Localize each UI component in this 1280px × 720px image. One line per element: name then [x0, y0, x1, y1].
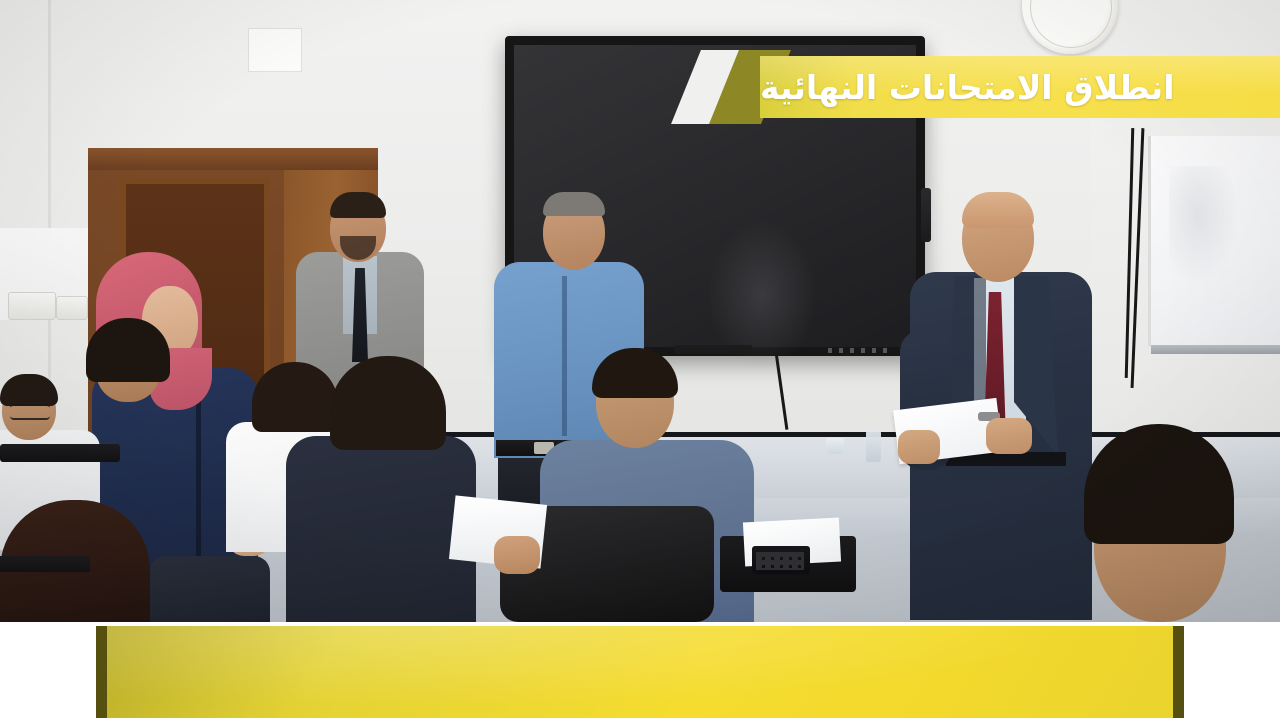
news-card: 8 7 6 5: [0, 0, 1280, 720]
navy-suit-bald-scalp: [962, 192, 1034, 228]
calculator: [752, 546, 810, 574]
student-body: [150, 556, 270, 622]
door-paper-sign: [248, 28, 302, 72]
whiteboard-tray: [1151, 345, 1280, 354]
footer-panel-gloss: [96, 626, 1184, 718]
blue-shirt-hair: [543, 192, 605, 216]
blue-shirt-placket: [562, 276, 567, 436]
smartboard-brand-plate: [674, 345, 752, 354]
navy-suit-hand-right: [986, 418, 1032, 454]
footer-edge-left: [96, 626, 107, 718]
student-glasses: [10, 404, 50, 420]
headline-text: انطلاق الامتحانات النهائية: [760, 56, 1268, 118]
wall-outlet: [8, 292, 56, 320]
student-desk-left: [0, 444, 120, 462]
whiteboard-smudge: [1169, 166, 1239, 286]
smartboard-indicator-leds: [828, 348, 888, 353]
paper-cup: [826, 438, 844, 454]
headline-banner: انطلاق الامتحانات النهائية: [686, 56, 1280, 118]
student-body: [286, 436, 476, 622]
navy-suit-hand-left: [898, 430, 940, 464]
footer-edge-right: [1173, 626, 1184, 718]
footer-bar: f — كلية هندسة النفط والتعدين — College …: [0, 622, 1280, 720]
whiteboard-right: [1148, 136, 1280, 346]
wall-switch: [56, 296, 88, 320]
calculator-keys: [756, 552, 804, 570]
clock-tick-ring: [1030, 0, 1112, 48]
smartboard-side-handle: [921, 188, 931, 242]
door-lintel: [88, 148, 378, 170]
hand-holding-papers: [494, 536, 540, 574]
student-desk-left-lower: [0, 556, 90, 572]
water-bottle: [866, 430, 881, 462]
grey-suit-hair: [330, 192, 386, 218]
